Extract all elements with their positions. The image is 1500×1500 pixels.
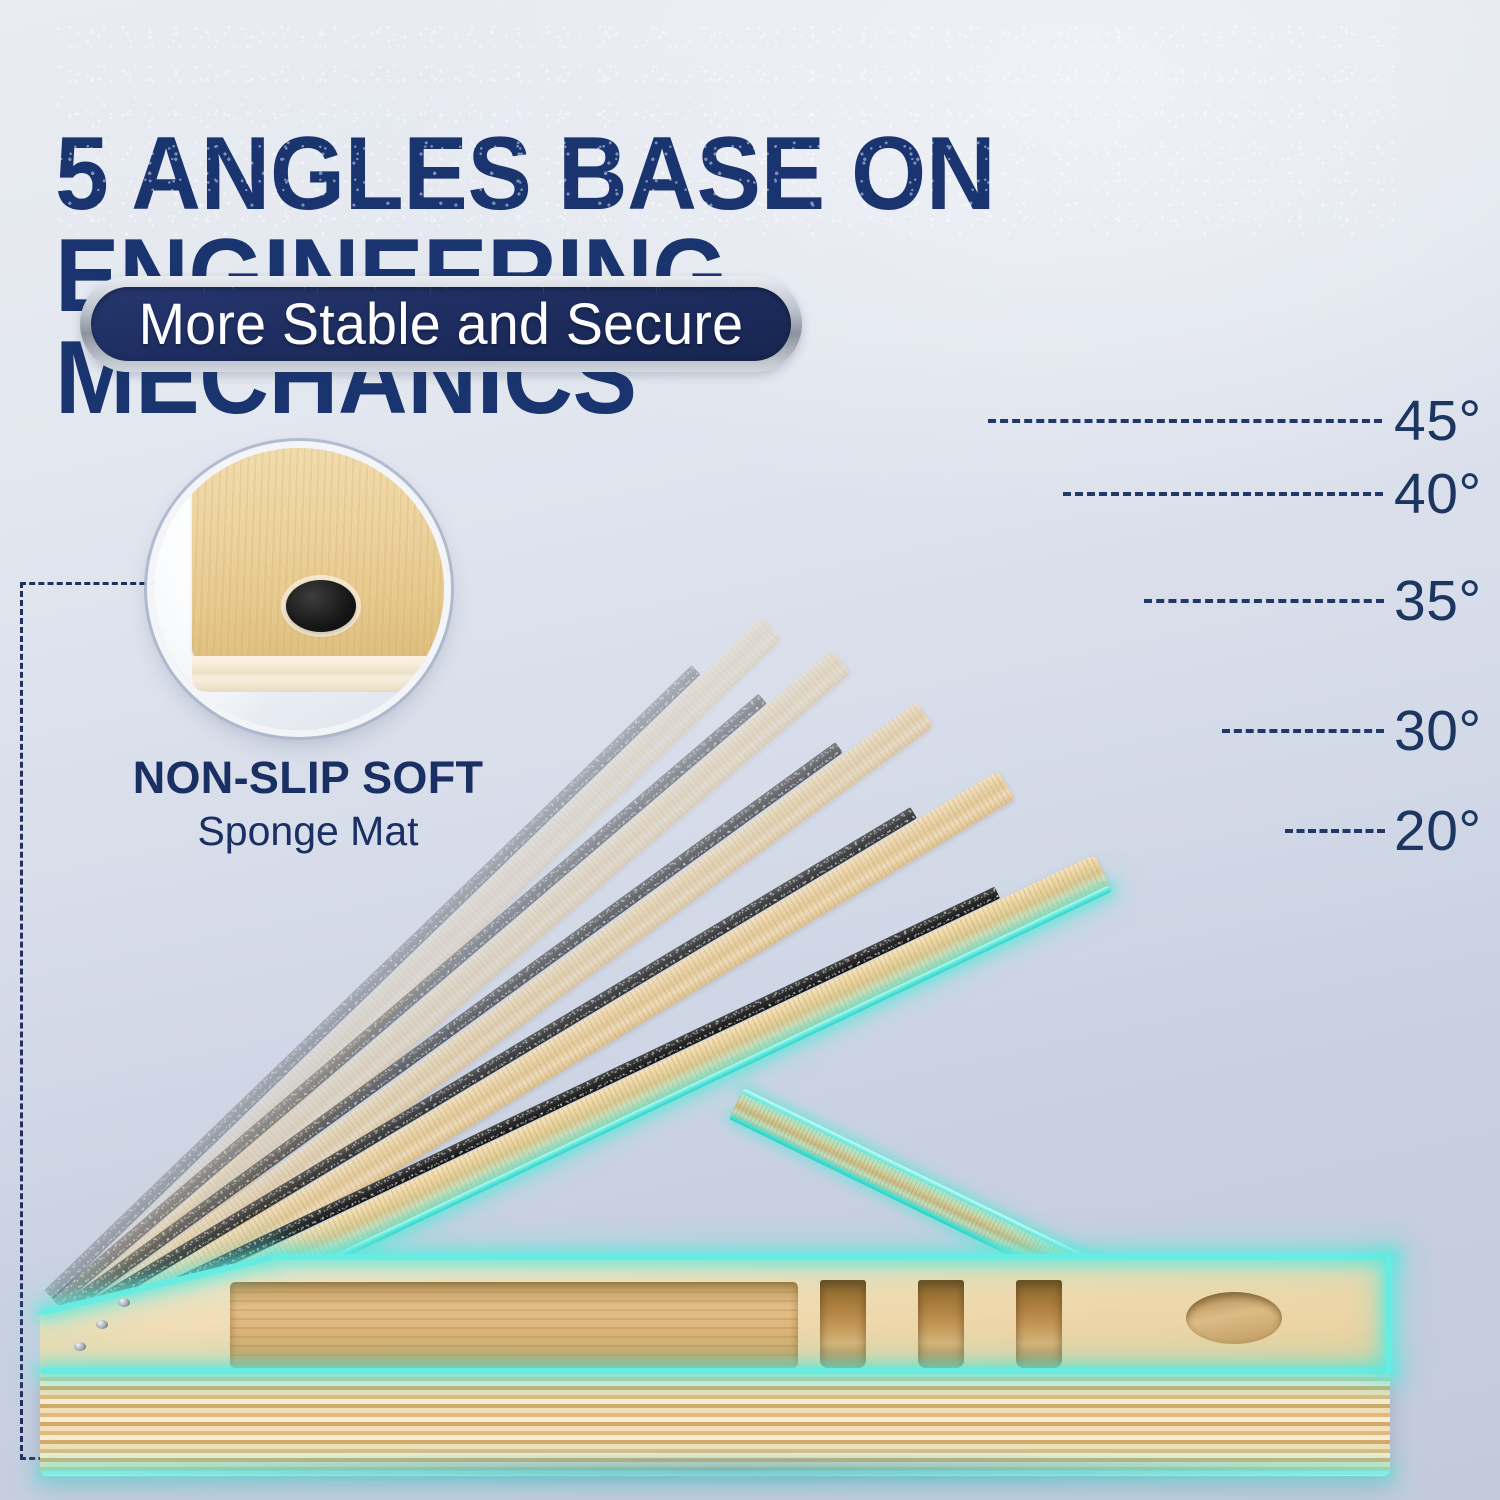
angle-label-45: 45° <box>1394 388 1482 454</box>
base-glow-top <box>272 1254 1394 1260</box>
angle-label-35: 35° <box>1394 568 1482 634</box>
base-glow-right <box>1386 1256 1392 1374</box>
stand-base <box>40 1258 1390 1476</box>
leader-line-45 <box>988 419 1382 423</box>
device-tray <box>230 1282 798 1368</box>
bamboo-laptop-stand <box>0 0 1500 1500</box>
hinge-pin-3 <box>74 1342 86 1351</box>
floor-shadow <box>80 1452 1370 1486</box>
angle-label-20: 20° <box>1394 798 1482 864</box>
leader-line-30 <box>1222 729 1384 733</box>
base-glow-front <box>40 1368 1390 1374</box>
angle-slot-2 <box>918 1280 964 1368</box>
leader-line-35 <box>1144 599 1384 603</box>
angle-slot-1 <box>820 1280 866 1368</box>
hinge-pin-1 <box>118 1298 130 1307</box>
angle-label-30: 30° <box>1394 698 1482 764</box>
hinge-pin-2 <box>96 1320 108 1329</box>
product-infographic: 5 ANGLES BASE ON ENGINEERING MECHANICS M… <box>0 0 1500 1500</box>
angle-label-40: 40° <box>1394 461 1482 527</box>
leader-line-20 <box>1285 829 1385 833</box>
badge-inner: More Stable and Secure <box>91 287 791 361</box>
leader-line-40 <box>1063 492 1383 496</box>
cable-notch <box>1186 1292 1282 1344</box>
badge-label: More Stable and Secure <box>139 291 744 358</box>
angle-slot-3 <box>1016 1280 1062 1368</box>
